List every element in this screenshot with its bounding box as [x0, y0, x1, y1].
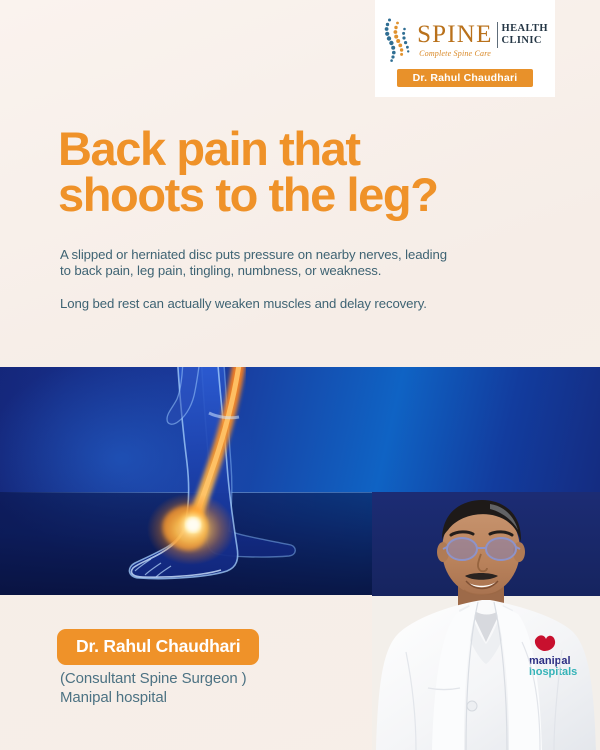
body-paragraph-2: Long bed rest can actually weaken muscle… [60, 296, 455, 312]
logo-tagline: Complete Spine Care [419, 49, 491, 58]
logo-wordmark-group: SPINE HEALTH CLINIC Complete Spine Care [417, 22, 548, 58]
logo-divider [497, 22, 498, 48]
svg-text:hospitals: hospitals [529, 666, 577, 678]
logo-doctor-name-pill: Dr. Rahul Chaudhari [397, 69, 534, 87]
logo-top-row: SPINE HEALTH CLINIC [417, 22, 548, 48]
headline-line-1: Back pain that [58, 126, 558, 172]
doctor-portrait: manipal hospitals [372, 492, 600, 750]
body-copy: A slipped or herniated disc puts pressur… [60, 247, 455, 312]
logo-row: SPINE HEALTH CLINIC Complete Spine Care [382, 17, 548, 63]
logo-clinic-word: CLINIC [502, 35, 548, 47]
logo-health-word: HEALTH [502, 23, 548, 35]
doctor-designation: (Consultant Spine Surgeon ) [60, 669, 390, 688]
poster-canvas: SPINE HEALTH CLINIC Complete Spine Care … [0, 0, 600, 750]
body-paragraph-1: A slipped or herniated disc puts pressur… [60, 247, 455, 280]
logo-spine-word: SPINE [417, 22, 492, 47]
logo-health-clinic: HEALTH CLINIC [502, 23, 548, 46]
leg-ankle-xray-illustration [105, 367, 395, 595]
doctor-hospital: Manipal hospital [60, 688, 390, 707]
doctor-credentials: (Consultant Spine Surgeon ) Manipal hosp… [60, 669, 390, 707]
page-title: Back pain that shoots to the leg? [58, 126, 558, 217]
doctor-name-pill: Dr. Rahul Chaudhari [57, 629, 259, 665]
spine-dots-mark-icon [382, 17, 412, 63]
headline-line-2: shoots to the leg? [58, 172, 558, 218]
clinic-logo-card: SPINE HEALTH CLINIC Complete Spine Care … [375, 0, 555, 97]
